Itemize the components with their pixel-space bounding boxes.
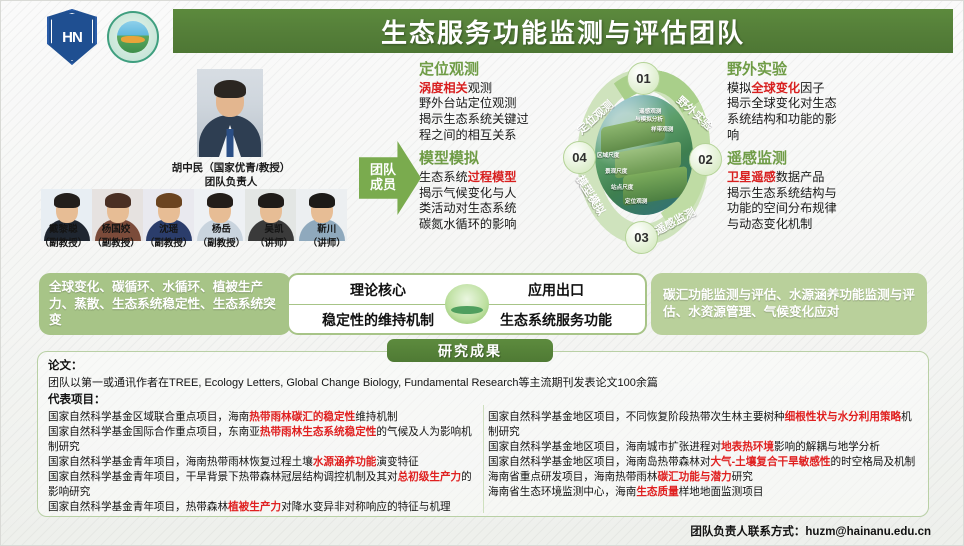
member-title: （副教授）	[142, 237, 195, 251]
method-block: 定位观测涡度相关观测野外台站定位观测揭示生态系统关键过程之间的相互关系	[419, 61, 571, 143]
projects-divider	[483, 405, 484, 513]
team-members-arrow: 团队 成员	[359, 141, 421, 215]
method-block: 遥感监测卫星遥感数据产品揭示生态系统结构与功能的空间分布规律与动态变化机制	[727, 150, 905, 232]
core-theory-panel: 理论核心 应用出口 稳定性的维持机制 生态系统服务功能	[287, 273, 647, 335]
application-outlet-value: 生态系统服务功能	[467, 310, 645, 330]
inner-label-landscape-scale: 景观尺度	[605, 167, 627, 175]
inner-label-transect: 样带观测	[651, 125, 673, 133]
member-name: 吴凯	[248, 223, 301, 237]
shield-inner-ring	[51, 13, 93, 61]
arrow-label-line1: 团队	[370, 162, 396, 177]
cycle-node-01[interactable]: 01	[627, 62, 660, 95]
project-highlight: 热带雨林碳汇的稳定性	[249, 411, 355, 423]
poster-title-bar: 生态服务功能监测与评估团队	[173, 9, 953, 53]
project-item: 国家自然科学基金国际合作重点项目，东南亚热带雨林生态系统稳定性的气候及人为影响机…	[48, 425, 478, 455]
applications-text: 碳汇功能监测与评估、水源涵养功能监测与评估、水资源管理、气候变化应对	[663, 287, 915, 320]
theory-core-label: 理论核心	[289, 280, 467, 300]
project-highlight: 水源涵养功能	[313, 456, 377, 468]
project-highlight: 热带雨林生态系统稳定性	[260, 426, 377, 438]
center-leaf-icon	[445, 284, 489, 324]
research-results-badge: 研究成果	[387, 339, 553, 362]
method-line: 野外台站定位观测	[419, 96, 571, 112]
leader-tie	[227, 129, 234, 157]
team-member-caption: 沈瑶（副教授）	[142, 223, 195, 251]
inner-label-remote-sensing: 遥感观测	[639, 107, 661, 115]
methods-column-left: 定位观测涡度相关观测野外台站定位观测揭示生态系统关键过程之间的相互关系模型模拟生…	[419, 61, 571, 239]
papers-text: 团队以第一或通讯作者在TREE, Ecology Letters, Global…	[48, 375, 918, 392]
method-line: 生态系统过程模型	[419, 170, 571, 186]
photo-hair	[207, 193, 233, 208]
method-block: 模型模拟生态系统过程模型揭示气候变化与人类活动对生态系统碳氮水循环的影响	[419, 150, 571, 232]
method-highlight: 卫星遥感	[727, 170, 776, 184]
research-cycle-diagram: 遥感观测 与模拟分析 样带观测 区域尺度 景观尺度 站点尺度 定位观测 01 0…	[561, 57, 725, 257]
member-title: （讲师）	[248, 237, 301, 251]
projects-column-right: 国家自然科学基金地区项目，不同恢复阶段热带次生林主要树种细根性状与水分利用策略机…	[488, 410, 918, 515]
method-line: 与动态变化机制	[727, 217, 905, 233]
method-line: 揭示气候变化与人	[419, 186, 571, 202]
project-highlight: 生态质量	[636, 486, 678, 498]
member-name: 杨岳	[195, 223, 248, 237]
inner-label-site-scale: 站点尺度	[611, 183, 633, 191]
method-heading: 遥感监测	[727, 150, 905, 169]
project-item: 国家自然科学基金地区项目，海南城市扩张进程对地表热环境影响的解耦与地学分析	[488, 440, 918, 455]
method-line: 揭示生态系统结构与	[727, 186, 905, 202]
project-item: 国家自然科学基金青年项目，干旱背景下热带森林冠层结构调控机制及其对总初级生产力的…	[48, 470, 478, 500]
method-line: 模拟全球变化因子	[727, 81, 905, 97]
cycle-node-02[interactable]: 02	[689, 143, 722, 176]
method-line: 功能的空间分布规律	[727, 201, 905, 217]
theory-core-value: 稳定性的维持机制	[289, 310, 467, 330]
project-item: 国家自然科学基金地区项目，不同恢复阶段热带次生林主要树种细根性状与水分利用策略机…	[488, 410, 918, 440]
method-line: 程之间的相互关系	[419, 128, 571, 144]
method-heading: 野外实验	[727, 61, 905, 80]
member-name: 沈瑶	[142, 223, 195, 237]
method-line: 系统结构和功能的影	[727, 112, 905, 128]
arrow-label-line2: 成员	[370, 177, 396, 192]
poster-root: HN 生态服务功能监测与评估团队 胡中民（国家优青/教授） 团队负责人 戴黎聪（…	[0, 0, 964, 546]
project-item: 海南省重点研发项目，海南热带雨林碳汇功能与潜力研究	[488, 470, 918, 485]
method-line: 涡度相关观测	[419, 81, 571, 97]
member-title: （副教授）	[37, 237, 90, 251]
inner-label-regional-scale: 区域尺度	[597, 151, 619, 159]
method-line: 类活动对生态系统	[419, 201, 571, 217]
projects-column-left: 国家自然科学基金区域联合重点项目，海南热带雨林碳汇的稳定性维持机制国家自然科学基…	[48, 410, 478, 515]
project-highlight: 总初级生产力	[398, 471, 462, 483]
project-highlight: 细根性状与水分利用策略	[785, 411, 902, 423]
method-heading: 模型模拟	[419, 150, 571, 169]
method-line: 卫星遥感数据产品	[727, 170, 905, 186]
project-item: 国家自然科学基金区域联合重点项目，海南热带雨林碳汇的稳定性维持机制	[48, 410, 478, 425]
project-highlight: 地表热环境	[721, 441, 774, 453]
photo-hair	[258, 193, 284, 208]
inner-label-fixed-observation: 定位观测	[625, 197, 647, 205]
member-name: 靳川	[300, 223, 353, 237]
method-block: 野外实验模拟全球变化因子揭示全球变化对生态系统结构和功能的影响	[727, 61, 905, 143]
team-member-caption: 杨岳（副教授）	[195, 223, 248, 251]
team-member-caption: 吴凯（讲师）	[248, 223, 301, 251]
project-item: 国家自然科学基金地区项目，海南岛热带森林对大气-土壤复合干旱敏感性的时空格局及机…	[488, 455, 918, 470]
team-leader-caption: 胡中民（国家优青/教授） 团队负责人	[121, 161, 341, 189]
method-heading: 定位观测	[419, 61, 571, 80]
method-highlight: 全球变化	[751, 81, 800, 95]
photo-hair	[309, 193, 335, 208]
member-title: （讲师）	[300, 237, 353, 251]
project-highlight: 大气-土壤复合干旱敏感性	[710, 456, 830, 468]
member-title: （副教授）	[90, 237, 143, 251]
project-highlight: 碳汇功能与潜力	[658, 471, 732, 483]
project-item: 国家自然科学基金青年项目，热带森林植被生产力对降水变异非对称响应的特征与机理	[48, 500, 478, 515]
method-line: 揭示全球变化对生态	[727, 96, 905, 112]
team-leader-photo	[197, 69, 263, 157]
method-highlight: 涡度相关	[419, 81, 468, 95]
application-outlet-label: 应用出口	[467, 280, 645, 300]
project-highlight: 植被生产力	[228, 501, 281, 513]
photo-hair	[105, 193, 131, 208]
ecology-college-circular-logo	[107, 11, 159, 63]
leader-name-title: 胡中民（国家优青/教授）	[121, 161, 341, 175]
applications-panel: 碳汇功能监测与评估、水源涵养功能监测与评估、水资源管理、气候变化应对	[651, 273, 927, 335]
page-title: 生态服务功能监测与评估团队	[381, 13, 745, 50]
contact-email[interactable]: huzm@hainanu.edu.cn	[805, 526, 931, 538]
member-name: 杨国姣	[90, 223, 143, 237]
team-member-caption: 杨国姣（副教授）	[90, 223, 143, 251]
method-line: 揭示生态系统关键过	[419, 112, 571, 128]
keywords-panel: 全球变化、碳循环、水循环、植被生产力、蒸散、生态系统稳定性、生态系统突变	[39, 273, 291, 335]
contact-footer: 团队负责人联系方式：huzm@hainanu.edu.cn	[601, 523, 931, 539]
logo-emblem	[117, 21, 149, 53]
contact-label: 团队负责人联系方式：	[690, 526, 805, 538]
cycle-node-04[interactable]: 04	[563, 141, 596, 174]
photo-hair	[54, 193, 80, 208]
project-item: 国家自然科学基金青年项目，海南热带雨林恢复过程土壤水源涵养功能演变特征	[48, 455, 478, 470]
method-highlight: 过程模型	[468, 170, 517, 184]
inner-label-simulation: 与模拟分析	[635, 115, 663, 123]
method-line: 碳氮水循环的影响	[419, 217, 571, 233]
project-item: 海南省生态环境监测中心，海南生态质量样地地面监测项目	[488, 485, 918, 500]
team-member-caption: 戴黎聪（副教授）	[37, 223, 90, 251]
hainan-university-shield-logo: HN	[47, 9, 97, 65]
leader-role: 团队负责人	[121, 175, 341, 189]
member-title: （副教授）	[195, 237, 248, 251]
leader-hair	[214, 80, 246, 98]
member-name: 戴黎聪	[37, 223, 90, 237]
methods-column-right: 野外实验模拟全球变化因子揭示全球变化对生态系统结构和功能的影响遥感监测卫星遥感数…	[727, 61, 905, 239]
method-line: 响	[727, 128, 905, 144]
keywords-text: 全球变化、碳循环、水循环、植被生产力、蒸散、生态系统稳定性、生态系统突变	[49, 279, 281, 329]
team-member-caption: 靳川（讲师）	[300, 223, 353, 251]
team-member-names: 戴黎聪（副教授）杨国姣（副教授）沈瑶（副教授）杨岳（副教授）吴凯（讲师）靳川（讲…	[37, 223, 353, 251]
photo-hair	[156, 193, 182, 208]
